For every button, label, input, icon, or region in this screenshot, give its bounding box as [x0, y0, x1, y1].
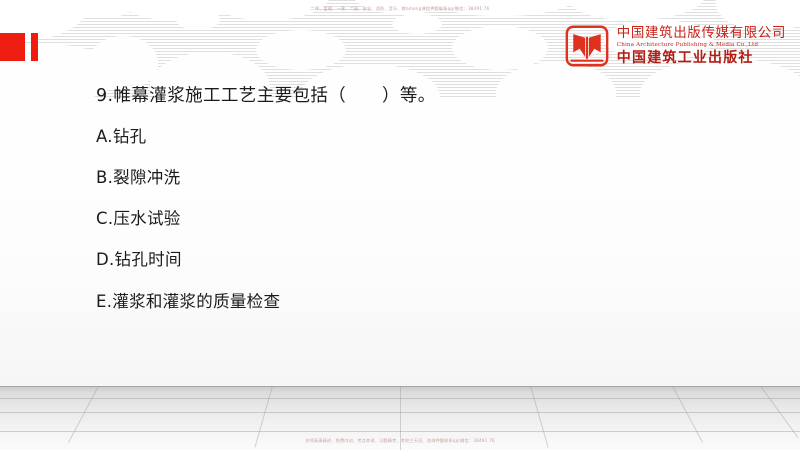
watermark-top: 二建、监理、一建、二级、安全、消防、音乐、教among课程押题联系qq/微信：3… — [0, 6, 800, 12]
publisher-logo-text: 中国建筑出版传媒有限公司 China Architecture Publishi… — [617, 27, 786, 64]
floor-vline — [68, 386, 99, 443]
answer-option-a[interactable]: A.钻孔 — [96, 126, 756, 148]
open-book-icon — [565, 24, 609, 68]
publisher-name-cn: 中国建筑出版传媒有限公司 — [617, 27, 786, 41]
answer-option-d[interactable]: D.钻孔时间 — [96, 249, 756, 271]
brand-block-small — [31, 33, 38, 61]
floor-vline — [672, 386, 703, 443]
answer-option-list: A.钻孔 B.裂隙冲洗 C.压水试验 D.钻孔时间 E.灌浆和灌浆的质量检查 — [96, 126, 756, 313]
answer-option-c[interactable]: C.压水试验 — [96, 208, 756, 230]
question-stem: 9.帷幕灌浆施工工艺主要包括（ ）等。 — [96, 84, 756, 109]
publisher-name-en: China Architecture Publishing & Media Co… — [617, 43, 786, 49]
watermark-bottom: 名师高清精讲、免费内训、考点串讲、习题精考、考前三天班、咨询押题联系qq/微信：… — [0, 438, 800, 444]
question-content: 9.帷幕灌浆施工工艺主要包括（ ）等。 A.钻孔 B.裂隙冲洗 C.压水试验 D… — [96, 84, 756, 313]
publisher-logo: 中国建筑出版传媒有限公司 China Architecture Publishi… — [565, 24, 786, 68]
answer-option-b[interactable]: B.裂隙冲洗 — [96, 167, 756, 189]
brand-block-large — [0, 33, 25, 61]
answer-option-e[interactable]: E.灌浆和灌浆的质量检查 — [96, 291, 756, 313]
presentation-slide: 二建、监理、一建、二级、安全、消防、音乐、教among课程押题联系qq/微信：3… — [0, 0, 800, 450]
publisher-imprint-cn: 中国建筑工业出版社 — [617, 51, 786, 65]
